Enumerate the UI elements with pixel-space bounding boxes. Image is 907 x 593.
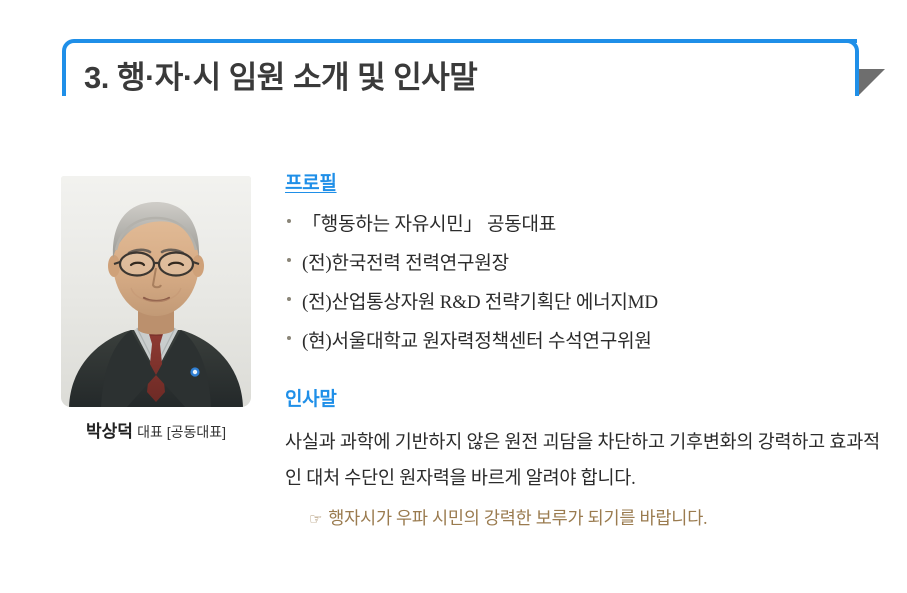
header-bracket-left-bar [62,52,66,96]
list-item: (전)산업통상자원 R&D 전략기획단 에너지MD [285,287,885,314]
list-item: (현)서울대학교 원자력정책센터 수석연구위원 [285,326,885,353]
profile-item-text: (현)서울대학교 원자력정책센터 수석연구위원 [302,331,652,352]
corner-triangle-icon [859,69,885,95]
greeting-highlight-line: ☞행자시가 우파 시민의 강력한 보루가 되기를 바랍니다. [309,505,885,530]
pointing-hand-icon: ☞ [309,510,322,529]
bullet-icon [287,297,291,301]
greeting-body-text: 사실과 과학에 기반하지 않은 원전 괴담을 차단하고 기후변화의 강력하고 효… [285,425,881,497]
profile-heading: 프로필 [285,168,885,195]
person-name: 박상덕 [86,422,133,441]
bullet-icon [287,336,291,340]
person-role: 대표 [공동대표] [137,424,226,440]
portrait-block: 박상덕 대표 [공동대표] [61,176,251,442]
portrait-illustration [61,176,251,407]
profile-item-text: 「행동하는 자유시민」 공동대표 [302,214,556,235]
content-column: 프로필 「행동하는 자유시민」 공동대표 (전)한국전력 전력연구원장 (전)산… [285,168,885,530]
greeting-heading: 인사말 [285,384,885,411]
header-bracket-top-rule [78,39,857,43]
slide-header: 3. 행·자·시 임원 소개 및 인사말 [0,0,907,120]
list-item: 「행동하는 자유시민」 공동대표 [285,209,885,236]
greeting-highlight-text: 행자시가 우파 시민의 강력한 보루가 되기를 바랍니다. [328,508,707,528]
profile-list: 「행동하는 자유시민」 공동대표 (전)한국전력 전력연구원장 (전)산업통상자… [285,209,885,353]
list-item: (전)한국전력 전력연구원장 [285,248,885,275]
page-title: 3. 행·자·시 임원 소개 및 인사말 [84,52,477,97]
profile-item-text: (전)한국전력 전력연구원장 [302,253,509,274]
bullet-icon [287,219,291,223]
portrait-caption: 박상덕 대표 [공동대표] [61,417,251,442]
portrait-photo [61,176,251,407]
profile-item-text: (전)산업통상자원 R&D 전략기획단 에너지MD [302,292,658,313]
bullet-icon [287,258,291,262]
slide-root: 3. 행·자·시 임원 소개 및 인사말 [0,0,907,593]
greeting-block: 인사말 사실과 과학에 기반하지 않은 원전 괴담을 차단하고 기후변화의 강력… [285,384,885,530]
